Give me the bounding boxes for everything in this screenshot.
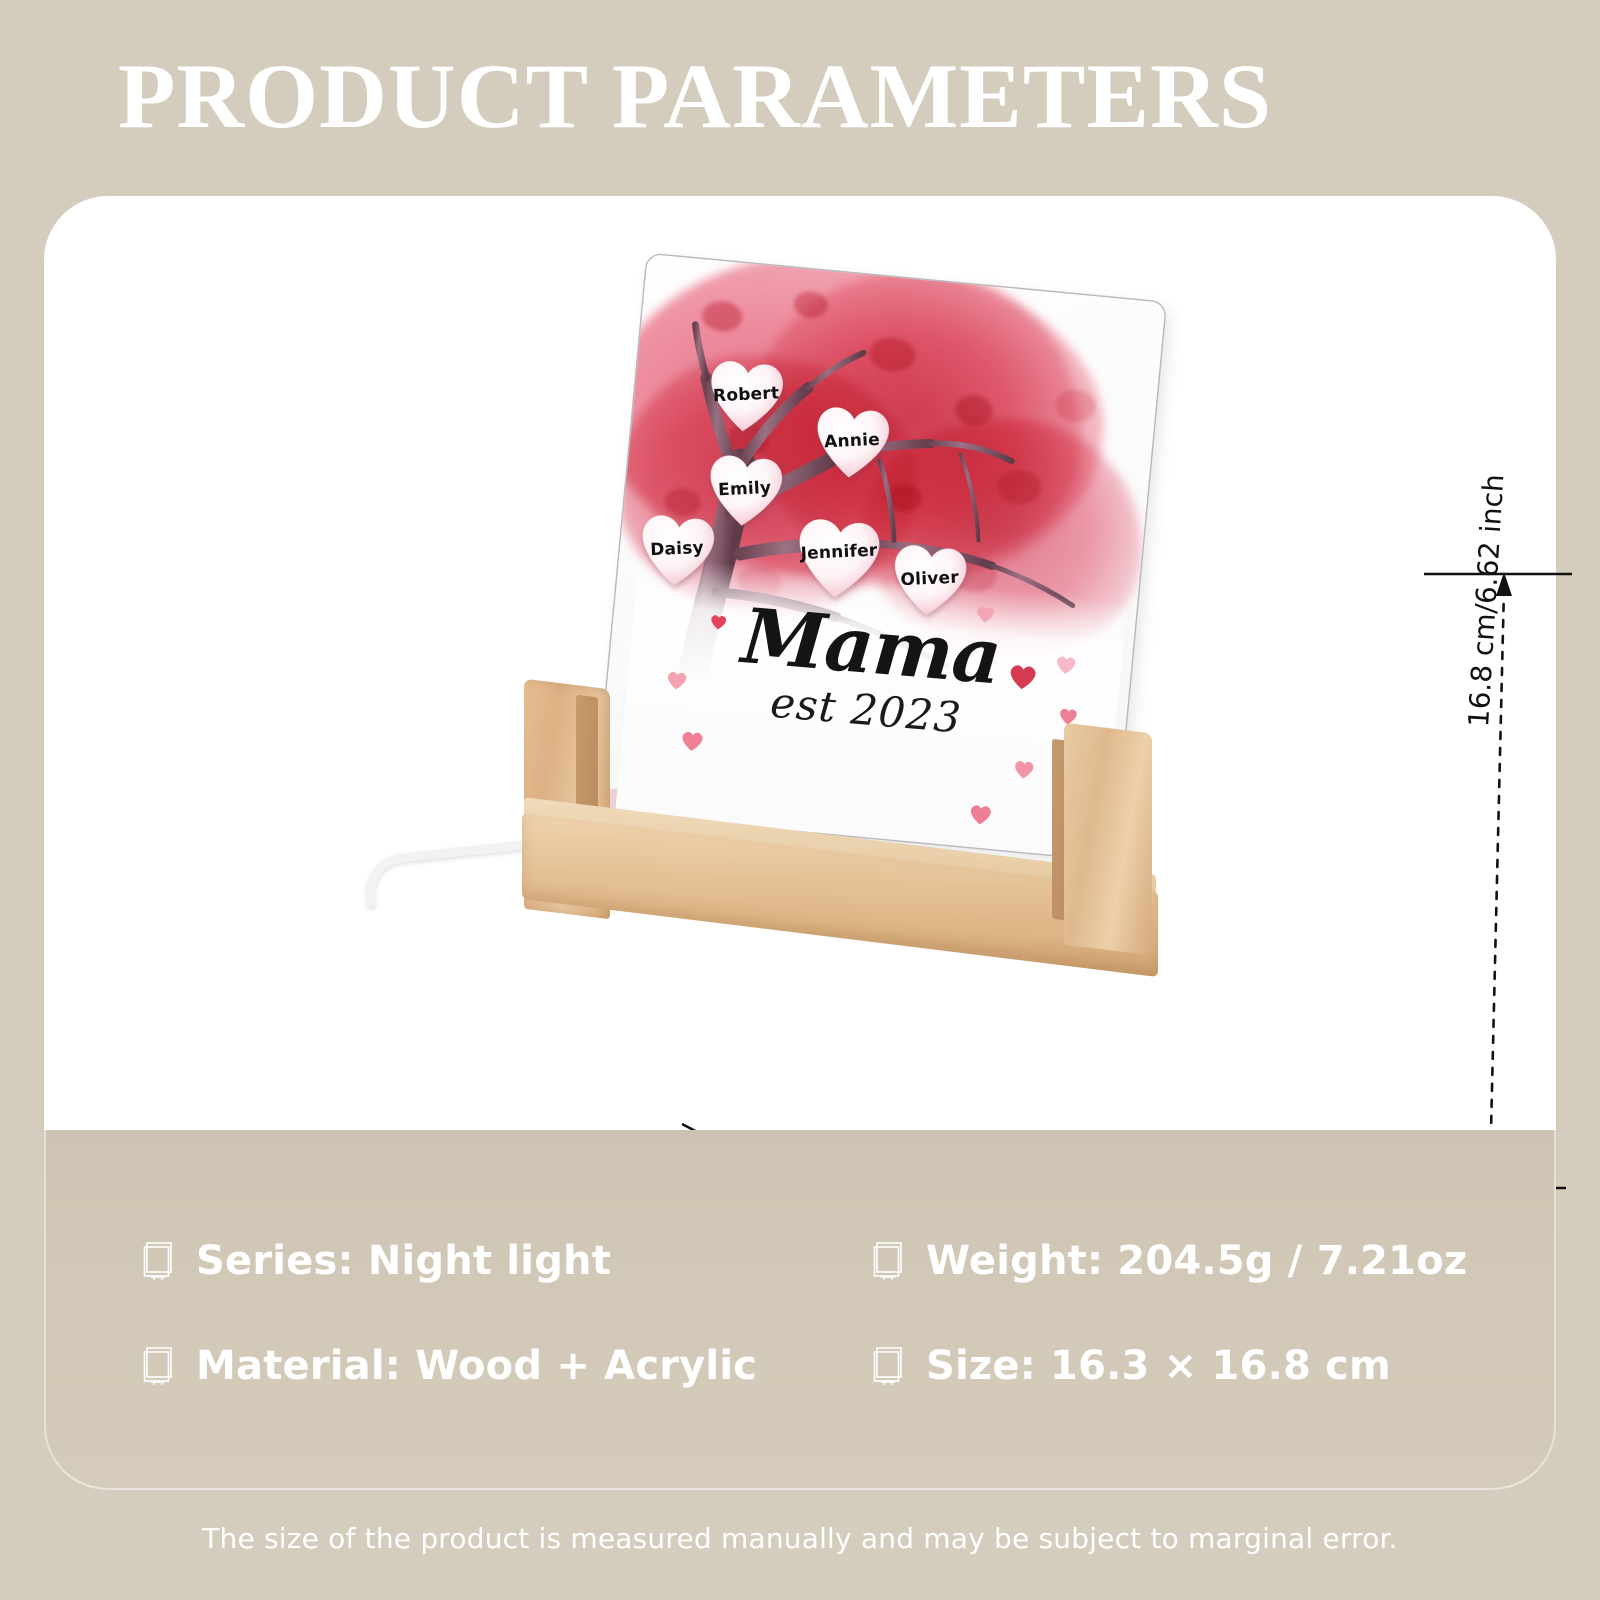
spec-item-size: Size: 16.3 × 16.8 cm [872,1313,1472,1418]
spec-label-size: Size: 16.3 × 16.8 cm [926,1343,1391,1389]
spec-item-weight: Weight: 204.5g / 7.21oz [872,1208,1472,1313]
spec-label-weight: Weight: 204.5g / 7.21oz [926,1238,1467,1284]
height-dimension: 16.8 cm/6.62 inch [1404,566,1584,1196]
name-heart-label: Robert [713,383,780,406]
specs-panel: Series: Night light Weight: 204.5g / 7.2… [44,1130,1556,1490]
wooden-base [504,666,1244,956]
product-image-card: Mama est 2023 Robert Annie [44,196,1556,1130]
name-heart-label: Jennifer [800,541,878,564]
spec-item-material: Material: Wood + Acrylic [142,1313,872,1418]
plaque-icon [872,1241,906,1281]
name-heart-label: Annie [824,430,881,453]
spec-label-series: Series: Night light [196,1238,611,1284]
name-heart-label: Daisy [650,538,704,560]
specs-grid: Series: Night light Weight: 204.5g / 7.2… [142,1208,1472,1418]
name-heart-robert: Robert [700,352,793,438]
page-title: PRODUCT PARAMETERS [118,48,1505,144]
wood-post-right [1064,723,1152,956]
plaque-icon [142,1346,176,1386]
name-heart-daisy: Daisy [631,506,724,592]
name-heart-jennifer: Jennifer [787,509,890,596]
footer-disclaimer: The size of the product is measured manu… [0,1522,1600,1555]
name-heart-annie: Annie [806,398,899,484]
plaque-icon [142,1241,176,1281]
usb-cable [362,839,546,908]
product-photo: Mama est 2023 Robert Annie [344,236,1284,1136]
name-heart-label: Emily [718,478,772,500]
name-heart-oliver: Oliver [883,536,976,622]
spec-item-series: Series: Night light [142,1208,872,1313]
name-heart-label: Oliver [900,568,959,591]
plaque-icon [872,1346,906,1386]
spec-label-material: Material: Wood + Acrylic [196,1343,757,1389]
